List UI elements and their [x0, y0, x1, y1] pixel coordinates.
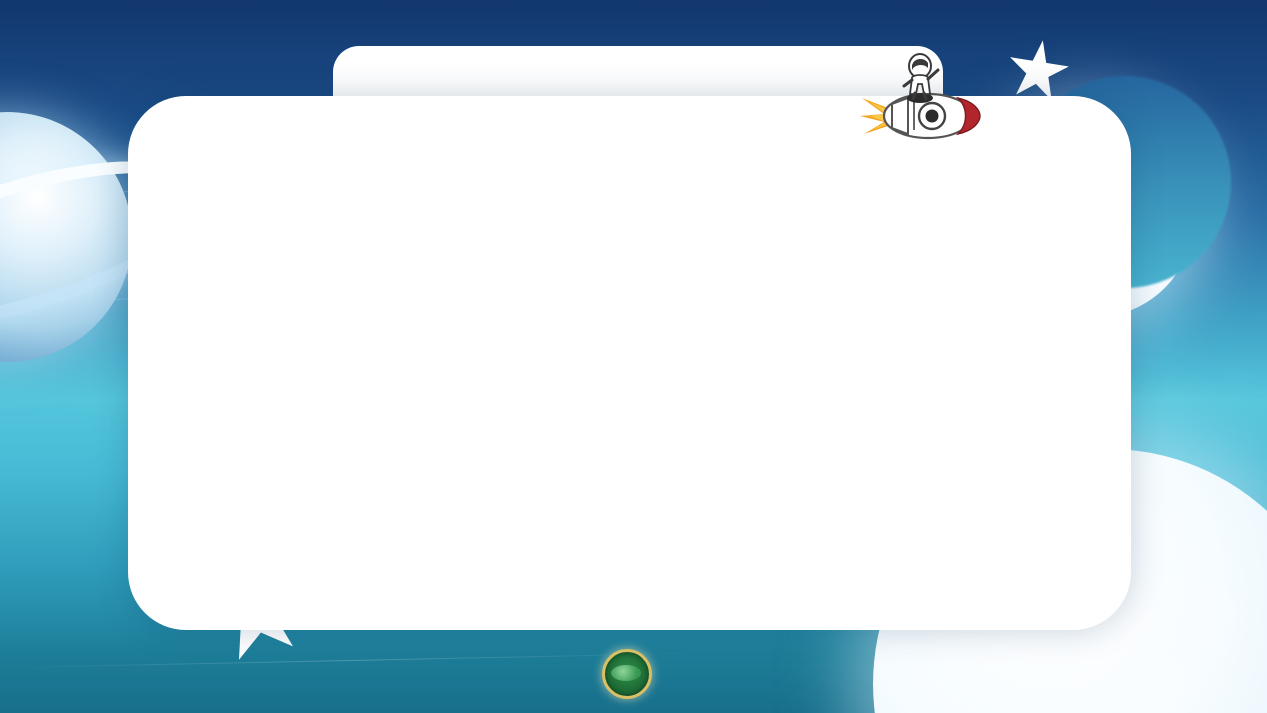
- school-emblem-icon: [602, 649, 652, 699]
- astronaut-icon: [904, 54, 938, 99]
- rocket-icon: [884, 93, 980, 138]
- rocket-with-astronaut: [858, 52, 982, 156]
- award-list-card: [128, 96, 1131, 630]
- slide-root: [0, 0, 1267, 713]
- footer: [0, 643, 1267, 705]
